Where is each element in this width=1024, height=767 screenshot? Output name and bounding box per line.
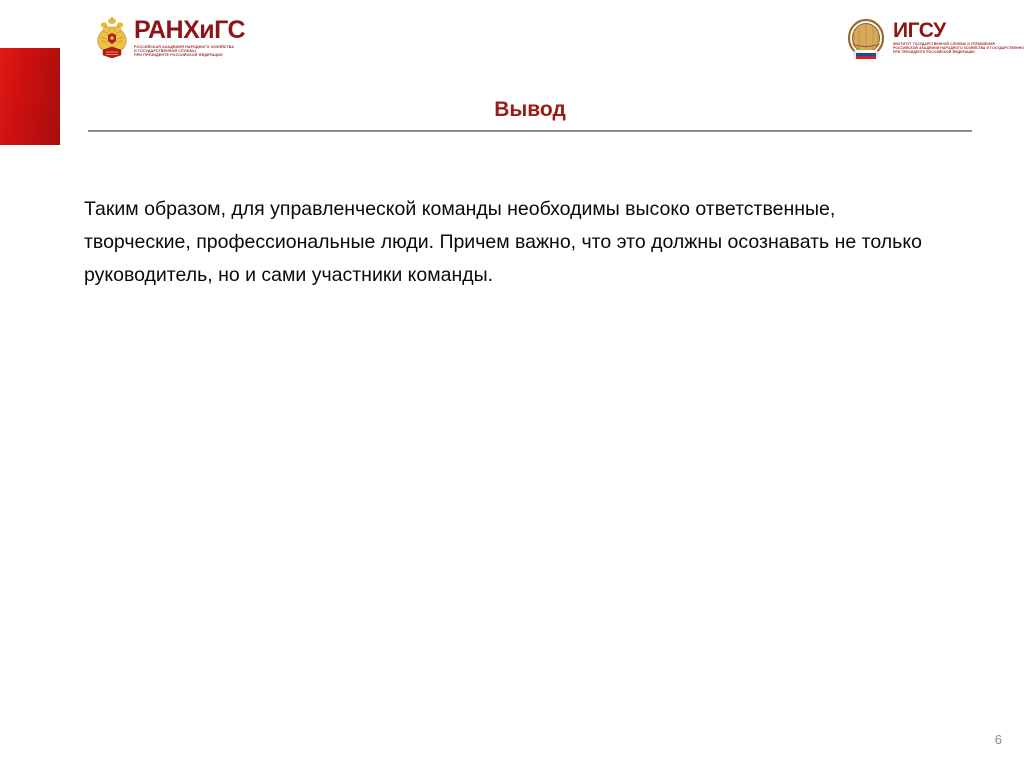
title-divider-rule xyxy=(88,130,972,132)
slide-body-text: Таким образом, для управленческой команд… xyxy=(84,193,929,292)
ranepa-subtitle-line-3: ПРИ ПРЕЗИДЕНТЕ РОССИЙСКОЙ ФЕДЕРАЦИИ xyxy=(134,53,245,57)
slide-title: Вывод xyxy=(88,98,972,122)
ranepa-subtitle: РОССИЙСКАЯ АКАДЕМИЯ НАРОДНОГО ХОЗЯЙСТВА … xyxy=(134,45,245,58)
left-red-accent-block xyxy=(0,48,60,145)
ranepa-emblem-wrap xyxy=(95,16,134,65)
igsu-logo: ИГСУ ИНСТИТУТ ГОСУДАРСТВЕННОЙ СЛУЖБЫ И У… xyxy=(845,18,1024,67)
double-headed-eagle-icon xyxy=(95,16,129,60)
igsu-wordmark: ИГСУ xyxy=(893,20,1024,41)
igsu-emblem-wrap xyxy=(845,18,893,67)
ranepa-logo-text: РАНХиГС РОССИЙСКАЯ АКАДЕМИЯ НАРОДНОГО ХО… xyxy=(134,16,245,58)
igsu-round-emblem-icon xyxy=(845,18,887,62)
igsu-subtitle-line-3: ПРИ ПРЕЗИДЕНТЕ РОССИЙСКОЙ ФЕДЕРАЦИИ xyxy=(893,51,1024,55)
igsu-subtitle: ИНСТИТУТ ГОСУДАРСТВЕННОЙ СЛУЖБЫ И УПРАВЛ… xyxy=(893,43,1024,55)
page-number: 6 xyxy=(995,732,1002,747)
igsu-logo-text: ИГСУ ИНСТИТУТ ГОСУДАРСТВЕННОЙ СЛУЖБЫ И У… xyxy=(893,18,1024,55)
ranepa-logo: РАНХиГС РОССИЙСКАЯ АКАДЕМИЯ НАРОДНОГО ХО… xyxy=(95,16,245,65)
ranepa-wordmark: РАНХиГС xyxy=(134,18,245,43)
